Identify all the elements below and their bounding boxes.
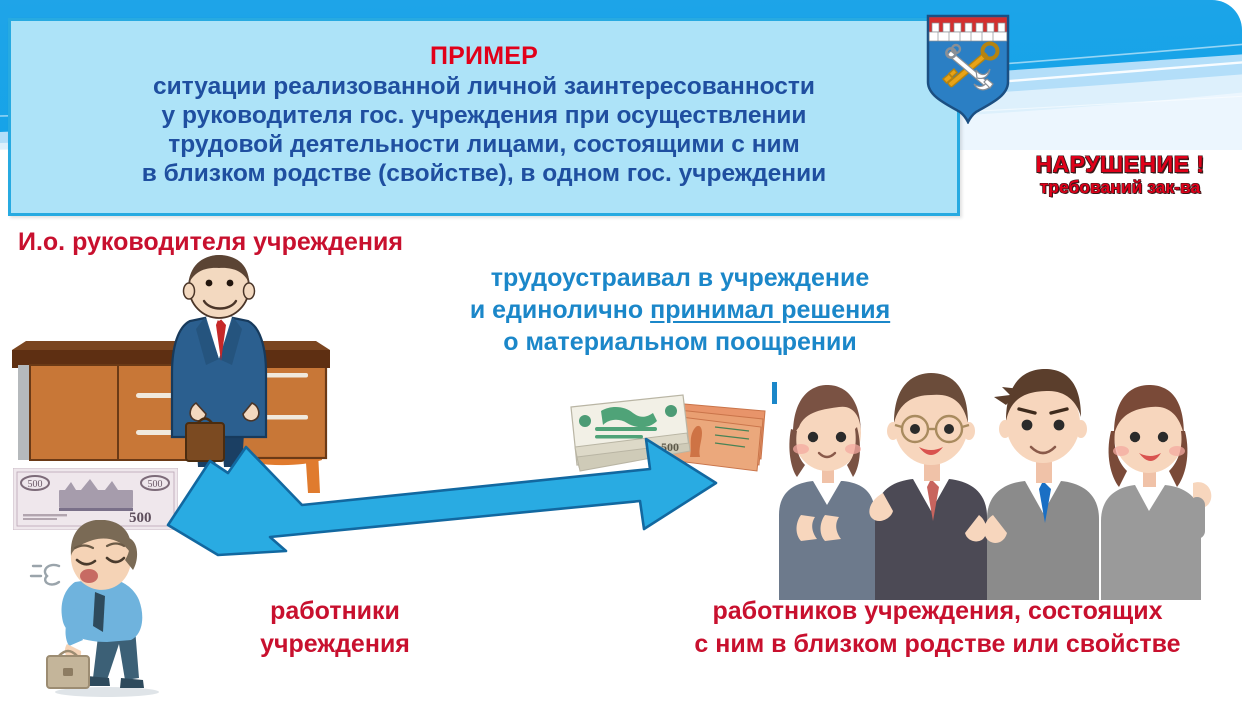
caption-right: работников учреждения, состоящих с ним в… [630,595,1245,660]
violation-title: НАРУШЕНИЕ ! [1000,152,1240,176]
header-line-1: ситуации реализованной личной заинтересо… [153,73,815,102]
svg-text:500: 500 [28,479,43,490]
caption-left: работники учреждения [215,595,455,661]
header-line-4: в близком родстве (свойстве), в одном го… [142,160,826,189]
caption-left-line-2: учреждения [215,628,455,661]
caption-left-line-1: работники [215,595,455,628]
action-line-2-prefix: и единолично [470,296,650,324]
action-line-3: о материальном поощрении [415,326,945,358]
header-title: ПРИМЕР [430,43,538,70]
caption-right-line-2: с ним в близком родстве или свойстве [630,628,1245,661]
example-header-box: ПРИМЕР ситуации реализованной личной заи… [8,18,960,216]
action-line-1: трудоустраивал в учреждение [415,262,945,294]
header-line-2: у руководителя гос. учреждения при осуще… [162,102,807,131]
actor-label: И.о. руководителя учреждения [18,229,403,255]
violation-subtitle: требований зак-ва [1000,178,1240,197]
caption-right-line-1: работников учреждения, состоящих [630,595,1245,628]
action-description: трудоустраивал в учреждение и единолично… [415,262,945,358]
coat-of-arms-icon [924,12,1012,124]
slide-canvas: ПРИМЕР ситуации реализованной личной заи… [0,0,1247,703]
arrow-tick-marker [772,382,777,404]
violation-warning: НАРУШЕНИЕ ! требований зак-ва [1000,152,1240,197]
header-line-3: трудовой деятельности лицами, состоящими… [168,131,799,160]
action-line-2: и единолично принимал решения [415,294,945,326]
action-line-2-underlined: принимал решения [650,296,890,324]
relatives-group-illustration [765,365,1243,600]
blue-double-arrow-icon [150,425,750,600]
